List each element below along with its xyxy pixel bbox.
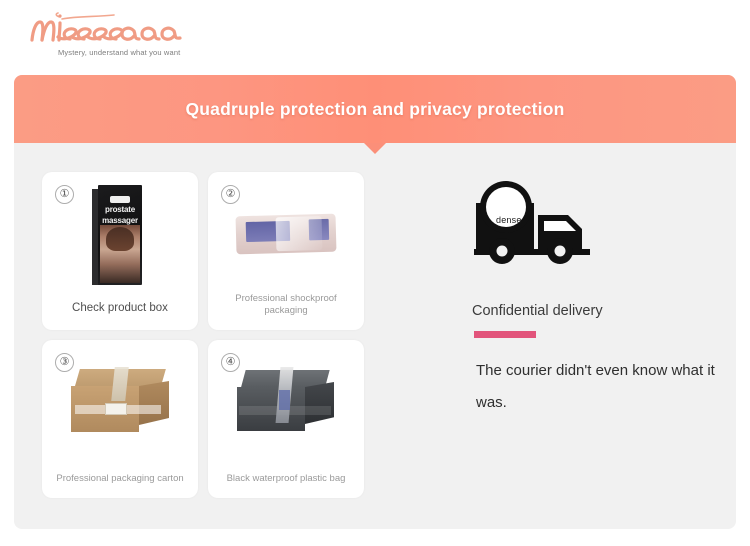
step-card-3[interactable]: ③ Professional packaging carton: [42, 340, 198, 498]
cardboard-carton-image: [42, 348, 198, 456]
truck-icon-word: dense: [496, 215, 522, 225]
step-caption: Professional shockproof packaging: [214, 289, 358, 320]
delivery-truck-icon: dense: [472, 175, 592, 275]
step-caption: Check product box: [48, 298, 192, 320]
product-box-image: prostate massager: [42, 180, 198, 288]
banner-arrow-icon: [364, 143, 386, 154]
black-wrapped-box-image: [208, 348, 364, 456]
delivery-title: Confidential delivery: [472, 303, 603, 319]
step-card-1[interactable]: ① prostate massager Check product box: [42, 172, 198, 330]
bubble-wrap-package-image: [208, 180, 364, 288]
brand-logo-icon[interactable]: [26, 6, 201, 50]
step-caption: Professional packaging carton: [48, 469, 192, 488]
step-card-4[interactable]: ④ Black waterproof plastic bag: [208, 340, 364, 498]
brand-header: Mystery, understand what you want: [0, 0, 750, 72]
delivery-section: dense Confidential delivery The courier …: [454, 175, 724, 275]
page-root: Mystery, understand what you want Quadru…: [0, 0, 750, 546]
delivery-body-text: The courier didn't even know what it was…: [476, 355, 726, 418]
steps-grid: ① prostate massager Check product box: [42, 172, 372, 502]
brand-tagline: Mystery, understand what you want: [58, 48, 180, 57]
section-banner: Quadruple protection and privacy protect…: [14, 75, 736, 143]
step-caption: Black waterproof plastic bag: [214, 469, 358, 488]
step-card-2[interactable]: ② Professional shockproof packaging: [208, 172, 364, 330]
box-text-line1: prostate: [101, 205, 139, 214]
box-text-line2: massager: [101, 216, 139, 225]
delivery-divider: [474, 331, 536, 338]
banner-title: Quadruple protection and privacy protect…: [14, 75, 736, 143]
content-panel: Quadruple protection and privacy protect…: [14, 75, 736, 529]
